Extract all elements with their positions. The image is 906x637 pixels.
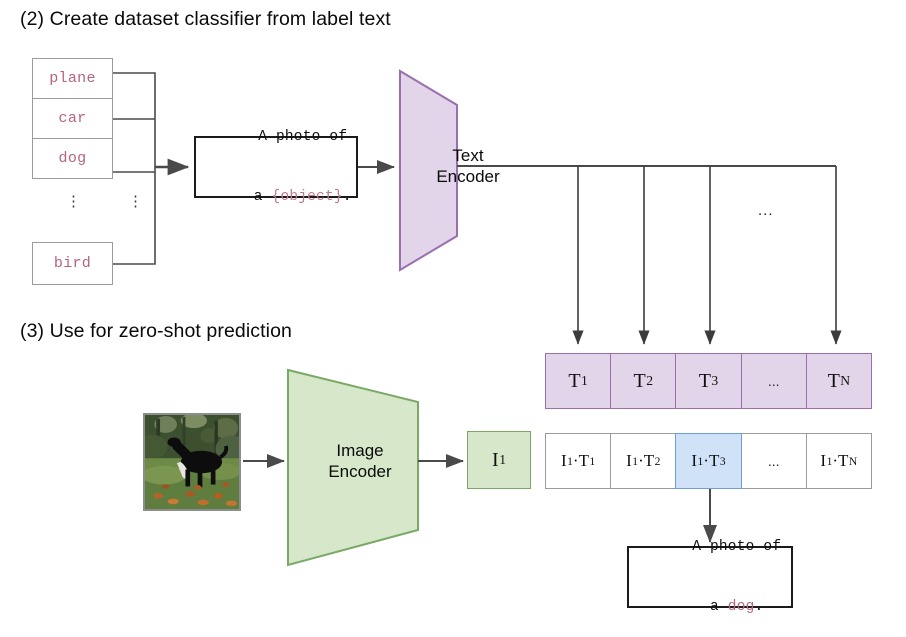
text-encoder-output-bus (457, 166, 836, 344)
image-encoder-label-line2: Encoder (312, 461, 408, 482)
image-encoder-label: Image Encoder (312, 440, 408, 482)
prediction-output-box: A photo of a dog. (627, 546, 793, 608)
section-2-title: (2) Create dataset classifier from label… (20, 8, 391, 31)
label-manifold-lines (113, 73, 155, 264)
prompt-object-slot: {object} (272, 189, 343, 205)
text-embedding-cell[interactable]: T1 (545, 353, 611, 409)
label-item-dog[interactable]: dog (32, 138, 113, 179)
text-embeddings-row: T1 T2 T3 ... TN (545, 353, 872, 409)
label-item-car[interactable]: car (32, 98, 113, 139)
label-item-bird[interactable]: bird (32, 242, 113, 285)
input-photo-content (145, 415, 239, 509)
text-encoder-label-line1: Text (426, 145, 510, 166)
label-item-text: car (59, 110, 87, 127)
figure-canvas: (2) Create dataset classifier from label… (0, 0, 906, 624)
prompt-line-1: A photo of (205, 107, 347, 167)
logit-cell[interactable]: I1·T2 (610, 433, 676, 489)
text-embedding-cell[interactable]: TN (806, 353, 872, 409)
image-encoder-label-line1: Image (312, 440, 408, 461)
logit-cell-selected[interactable]: I1·T3 (675, 433, 741, 489)
logit-cell[interactable]: I1·TN (806, 433, 872, 489)
text-embedding-cell[interactable]: T3 (675, 353, 741, 409)
logits-row: I1·T1 I1·T2 I1·T3 ... I1·TN (545, 433, 872, 489)
prompt-template-box: A photo of a {object}. (194, 136, 358, 198)
text-encoder-label-line2: Encoder (426, 166, 510, 187)
label-item-text: plane (49, 70, 96, 87)
label-item-plane[interactable]: plane (32, 58, 113, 99)
input-photo[interactable] (143, 413, 241, 511)
label-item-text: bird (54, 255, 91, 272)
image-embedding-cell[interactable]: I1 (467, 431, 531, 489)
prediction-line-1: A photo of (639, 517, 781, 577)
text-embedding-cell[interactable]: T2 (610, 353, 676, 409)
section-3-title: (3) Use for zero-shot prediction (20, 320, 292, 343)
text-embedding-ellipsis-cell: ... (741, 353, 807, 409)
prediction-line-2: a dog. (657, 577, 764, 637)
vertical-ellipsis-labels: ⋮ (66, 200, 81, 204)
prompt-line-2: a {object}. (200, 167, 351, 227)
bus-ellipsis: ... (758, 202, 774, 219)
prediction-class-text: dog (728, 599, 755, 615)
logit-ellipsis-cell: ... (741, 433, 807, 489)
logit-cell[interactable]: I1·T1 (545, 433, 611, 489)
label-item-text: dog (59, 150, 87, 167)
text-encoder-label: Text Encoder (426, 145, 510, 187)
vertical-ellipsis-lines: ⋮ (128, 200, 143, 204)
